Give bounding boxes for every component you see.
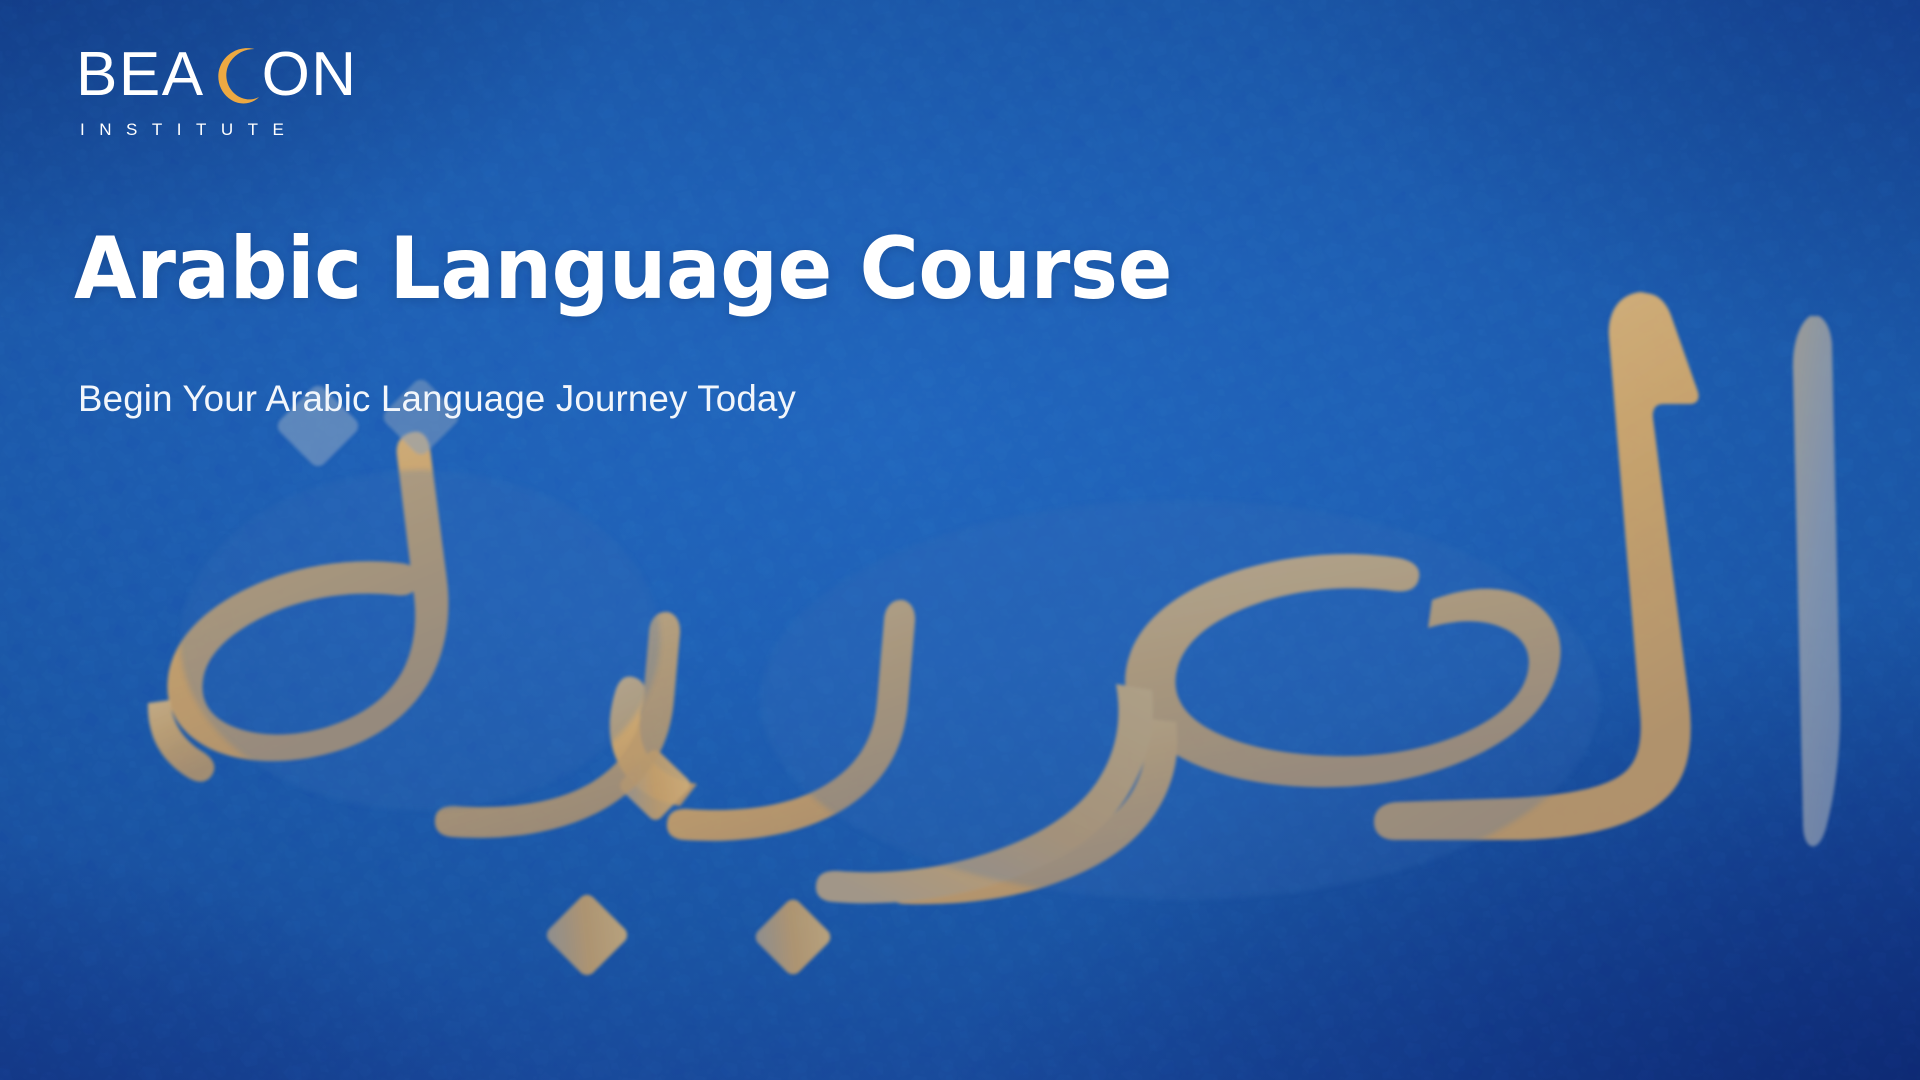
logo-wordmark-suffix: ON bbox=[262, 44, 358, 106]
crescent-moon-icon bbox=[207, 44, 261, 106]
logo-wordmark: BEA ON bbox=[76, 42, 536, 108]
page-title: Arabic Language Course bbox=[74, 226, 1172, 314]
page-subtitle: Begin Your Arabic Language Journey Today bbox=[78, 380, 796, 417]
promo-banner: BEA ON INSTITUTE Arabic Language Course … bbox=[0, 0, 1920, 1080]
brand-logo[interactable]: BEA ON INSTITUTE bbox=[76, 42, 536, 138]
background-speckle-texture bbox=[0, 0, 1920, 1080]
logo-tagline: INSTITUTE bbox=[80, 121, 536, 138]
logo-wordmark-prefix: BEA bbox=[76, 44, 205, 106]
